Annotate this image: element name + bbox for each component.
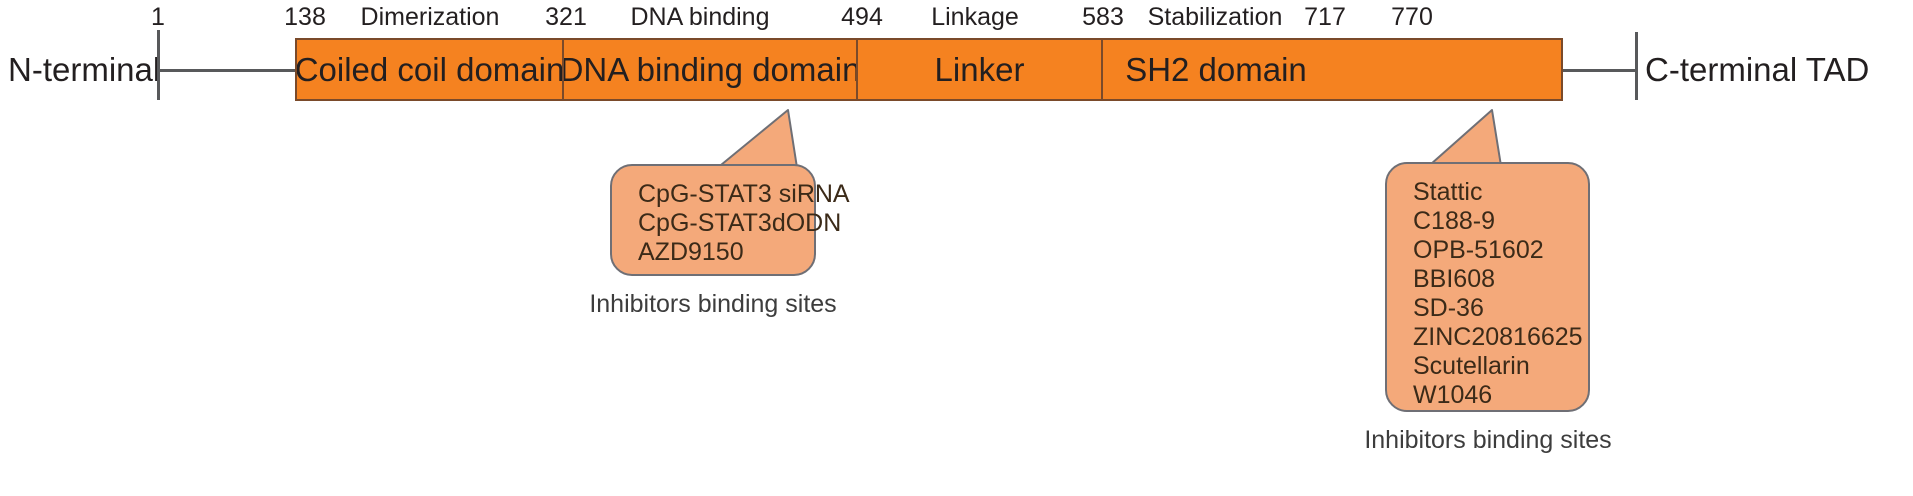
function-label-linkage: Linkage: [931, 3, 1019, 31]
callout-item: SD-36: [1413, 294, 1588, 323]
domain-coiled-coil[interactable]: Coiled coil domain: [297, 40, 562, 99]
scale-mark-494: 494: [841, 3, 883, 31]
callout-item: AZD9150: [638, 238, 814, 267]
c-terminal-label: C-terminal TAD: [1645, 52, 1869, 88]
stat3-domain-diagram: 1 138 Dimerization 321 DNA binding 494 L…: [0, 0, 1913, 496]
function-label-stabilization: Stabilization: [1148, 3, 1283, 31]
callout-item: OPB-51602: [1413, 236, 1588, 265]
scale-mark-770: 770: [1391, 3, 1433, 31]
domain-linker[interactable]: Linker: [856, 40, 1101, 99]
callout-caption-dna-binding: Inhibitors binding sites: [589, 290, 836, 318]
scale-mark-717: 717: [1304, 3, 1346, 31]
callout-item: CpG-STAT3 siRNA: [638, 180, 814, 209]
callout-body-sh2: Stattic C188-9 OPB-51602 BBI608 SD-36 ZI…: [1385, 162, 1590, 412]
callout-item: Stattic: [1413, 178, 1588, 207]
scale-mark-583: 583: [1082, 3, 1124, 31]
n-terminal-label: N-terminal: [8, 52, 160, 88]
callout-item: BBI608: [1413, 265, 1588, 294]
function-label-dimerization: Dimerization: [361, 3, 500, 31]
function-label-dna-binding: DNA binding: [631, 3, 770, 31]
callout-item: CpG-STAT3dODN: [638, 209, 814, 238]
c-terminal-tick: [1635, 32, 1638, 100]
callout-item: ZINC20816625: [1413, 323, 1588, 352]
callout-item: Scutellarin: [1413, 352, 1588, 381]
domain-dna-binding[interactable]: DNA binding domain: [562, 40, 856, 99]
backbone-line-left: [158, 69, 297, 72]
scale-mark-138: 138: [284, 3, 326, 31]
n-terminal-tick: [157, 30, 160, 100]
domain-bar: Coiled coil domain DNA binding domain Li…: [295, 38, 1563, 101]
domain-sh2-label: SH2 domain: [1125, 52, 1307, 88]
callout-item: C188-9: [1413, 207, 1588, 236]
domain-dna-binding-label: DNA binding domain: [562, 52, 856, 88]
domain-linker-label: Linker: [935, 52, 1025, 88]
scale-mark-321: 321: [545, 3, 587, 31]
backbone-line-right: [1561, 69, 1637, 72]
callout-caption-sh2: Inhibitors binding sites: [1364, 426, 1611, 454]
callout-body-dna-binding: CpG-STAT3 siRNA CpG-STAT3dODN AZD9150: [610, 164, 816, 276]
callout-item: W1046: [1413, 381, 1588, 410]
domain-sh2[interactable]: SH2 domain: [1101, 40, 1329, 99]
domain-coiled-coil-label: Coiled coil domain: [297, 52, 562, 88]
scale-mark-1: 1: [151, 3, 165, 31]
